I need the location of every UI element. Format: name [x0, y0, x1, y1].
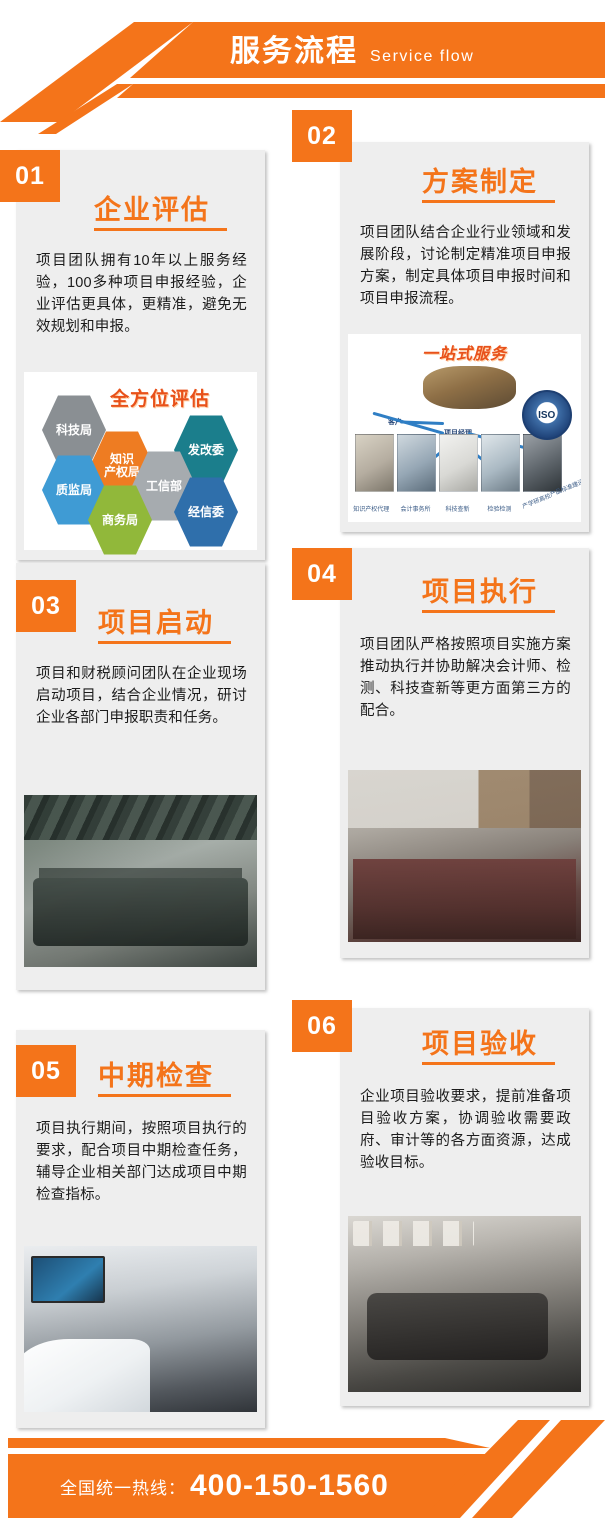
step-badge-04: 04 — [292, 548, 352, 600]
step-card-02[interactable]: 方案制定 项目团队结合企业行业领域和发展阶段，讨论制定精准项目申报方案，制定具体… — [340, 142, 589, 532]
hex-node-label: 发改委 — [188, 444, 224, 457]
step-photo-06 — [348, 1216, 581, 1392]
step-badge-05: 05 — [16, 1045, 76, 1097]
iso-seal-icon: ISO — [522, 390, 572, 440]
step-title-rule-06 — [422, 1062, 555, 1065]
step-body-03: 项目和财税顾问团队在企业现场启动项目，结合企业情况，研讨企业各部门申报职责和任务… — [36, 663, 247, 729]
step-photo-04 — [348, 770, 581, 942]
step-title-03: 项目启动 — [98, 601, 214, 640]
step-photo-03 — [24, 795, 257, 967]
one-stop-thumb — [397, 434, 436, 492]
step-title-rule-05 — [98, 1094, 231, 1097]
step-card-06[interactable]: 项目验收 企业项目验收要求，提前准备项目验收方案，协调验收需要政府、审计等的各方… — [340, 1008, 589, 1406]
one-stop-title: 一站式服务 — [348, 340, 581, 364]
hotline-label: 全国统一热线： — [60, 1474, 186, 1499]
step-title-02: 方案制定 — [422, 160, 538, 199]
one-stop-service-diagram: 一站式服务 客户 项目经理 知识产权代理 会计事务所 科技查新 检验检测 产学研… — [348, 334, 581, 522]
step-body-04: 项目团队严格按照项目实施方案推动执行并协助解决会计师、检测、科技查新等更方面第三… — [360, 634, 571, 722]
step-badge-06: 06 — [292, 1000, 352, 1052]
step-title-rule-04 — [422, 610, 555, 613]
step-body-02: 项目团队结合企业行业领域和发展阶段，讨论制定精准项目申报方案，制定具体项目申报时… — [360, 222, 571, 310]
step-badge-02: 02 — [292, 110, 352, 162]
step-title-06: 项目验收 — [422, 1022, 538, 1061]
page-footer: 全国统一热线： 400-150-1560 — [0, 1420, 605, 1538]
step-title-rule-01 — [94, 228, 227, 231]
hex-diagram-title: 全方位评估 — [110, 384, 210, 411]
assessment-hex-diagram: 全方位评估 科技局 知识 产权局 发改委 质监局 工信部 商务局 经信委 — [24, 372, 257, 550]
header-title-group: 服务流程 Service flow — [230, 30, 474, 74]
one-stop-caption: 知识产权代理 — [348, 504, 395, 513]
hex-node-label: 经信委 — [188, 506, 224, 519]
one-stop-center-photo — [423, 366, 516, 409]
hex-node-label: 工信部 — [146, 480, 182, 493]
one-stop-thumb — [439, 434, 478, 492]
step-title-04: 项目执行 — [422, 570, 538, 609]
step-card-01[interactable]: 企业评估 项目团队拥有10年以上服务经验，100多种项目申报经验，企业评估更具体… — [16, 150, 265, 560]
step-card-04[interactable]: 项目执行 项目团队严格按照项目实施方案推动执行并协助解决会计师、检测、科技查新等… — [340, 548, 589, 958]
step-photo-05 — [24, 1246, 257, 1412]
hotline-number[interactable]: 400-150-1560 — [190, 1469, 389, 1503]
hex-node-label: 商务局 — [102, 514, 138, 527]
step-body-05: 项目执行期间，按照项目执行的要求，配合项目中期检查任务，辅导企业相关部门达成项目… — [36, 1118, 247, 1206]
step-body-01: 项目团队拥有10年以上服务经验，100多种项目申报经验，企业评估更具体，更精准，… — [36, 250, 247, 338]
one-stop-thumb — [355, 434, 394, 492]
page-header: 服务流程 Service flow — [0, 0, 605, 118]
hotline-group: 全国统一热线： 400-150-1560 — [60, 1454, 389, 1518]
hex-node-label: 质监局 — [56, 484, 92, 497]
one-stop-thumb — [481, 434, 520, 492]
step-badge-03: 03 — [16, 580, 76, 632]
hex-node-label: 知识 产权局 — [104, 453, 140, 478]
page-title: 服务流程 — [230, 30, 358, 74]
one-stop-caption: 科技查新 — [434, 504, 481, 513]
hex-node-label: 科技局 — [56, 424, 92, 437]
step-badge-01: 01 — [0, 150, 60, 202]
step-title-rule-02 — [422, 200, 555, 203]
page-subtitle: Service flow — [370, 35, 474, 79]
one-stop-caption: 会计事务所 — [392, 504, 439, 513]
one-stop-thumb — [523, 434, 562, 492]
step-body-06: 企业项目验收要求，提前准备项目验收方案，协调验收需要政府、审计等的各方面资源，达… — [360, 1086, 571, 1174]
step-title-05: 中期检查 — [98, 1054, 214, 1093]
step-title-01: 企业评估 — [94, 188, 210, 227]
step-title-rule-03 — [98, 641, 231, 644]
